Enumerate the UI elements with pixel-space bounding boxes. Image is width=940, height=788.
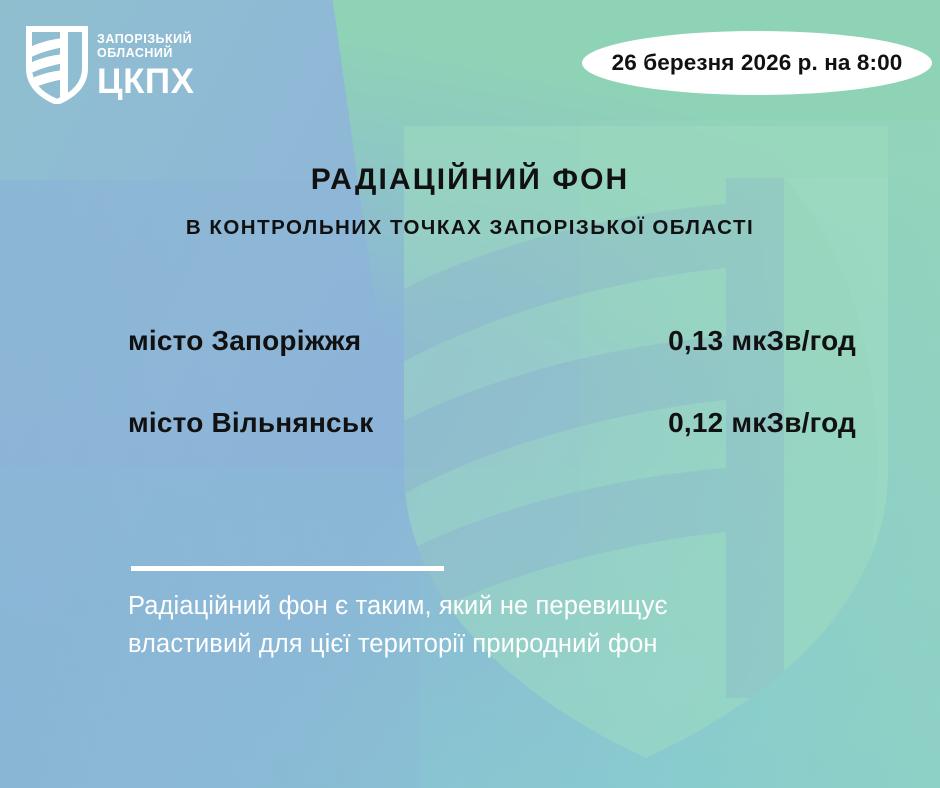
reading-value: 0,13 мкЗв/год	[668, 325, 856, 357]
footnote-block: Радіаційний фон є таким, який не перевищ…	[128, 588, 858, 663]
heading-block: РАДІАЦІЙНИЙ ФОН В КОНТРОЛЬНИХ ТОЧКАХ ЗАП…	[0, 163, 940, 240]
shield-logo-icon	[26, 26, 88, 104]
reading-row: місто Вільнянськ 0,12 мкЗв/год	[128, 407, 856, 439]
date-badge: 26 березня 2026 р. на 8:00	[582, 31, 932, 95]
brand-logo-text: ЗАПОРІЗЬКИЙ ОБЛАСНИЙ ЦКПХ	[97, 32, 194, 99]
section-divider	[131, 566, 444, 571]
page-title: РАДІАЦІЙНИЙ ФОН	[0, 163, 940, 196]
brand-abbreviation: ЦКПХ	[97, 64, 194, 99]
footnote-line-2: властивий для цієї території природний ф…	[128, 626, 858, 664]
radiation-background-poster: ЗАПОРІЗЬКИЙ ОБЛАСНИЙ ЦКПХ 26 березня 202…	[0, 0, 940, 788]
reading-place: місто Вільнянськ	[128, 407, 373, 439]
reading-value: 0,12 мкЗв/год	[668, 407, 856, 439]
date-badge-text: 26 березня 2026 р. на 8:00	[612, 50, 903, 76]
page-subtitle: В КОНТРОЛЬНИХ ТОЧКАХ ЗАПОРІЗЬКОЇ ОБЛАСТІ	[0, 217, 940, 240]
footnote-line-1: Радіаційний фон є таким, який не перевищ…	[128, 588, 858, 626]
brand-line-2: ОБЛАСНИЙ	[97, 46, 194, 61]
brand-logo: ЗАПОРІЗЬКИЙ ОБЛАСНИЙ ЦКПХ	[26, 26, 194, 104]
brand-line-1: ЗАПОРІЗЬКИЙ	[97, 32, 194, 47]
readings-list: місто Запоріжжя 0,13 мкЗв/год місто Віль…	[128, 325, 856, 489]
reading-place: місто Запоріжжя	[128, 325, 361, 357]
reading-row: місто Запоріжжя 0,13 мкЗв/год	[128, 325, 856, 357]
